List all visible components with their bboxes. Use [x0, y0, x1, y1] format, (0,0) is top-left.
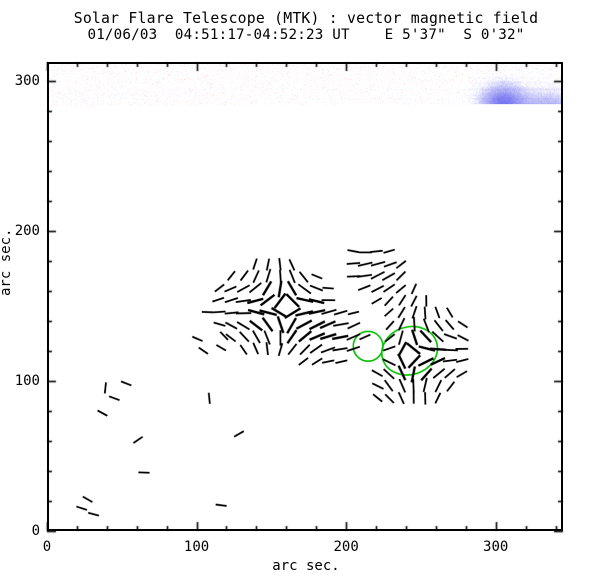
x-tick-label: 0: [43, 539, 51, 555]
title-line-1: Solar Flare Telescope (MTK) : vector mag…: [0, 10, 612, 27]
y-tick-label: 200: [15, 223, 40, 239]
x-tick-label: 200: [333, 539, 358, 555]
title-line-2: 01/06/03 04:51:17-04:52:23 UT E 5'37" S …: [0, 27, 612, 44]
x-tick-label: 300: [483, 539, 508, 555]
y-axis-title: arc sec.: [0, 229, 14, 296]
magnetogram-figure: Solar Flare Telescope (MTK) : vector mag…: [0, 0, 612, 585]
y-tick-label: 300: [15, 73, 40, 89]
figure-title: Solar Flare Telescope (MTK) : vector mag…: [0, 10, 612, 44]
x-axis-title: arc sec.: [0, 558, 612, 574]
x-tick-label: 100: [184, 539, 209, 555]
y-tick-label: 100: [15, 373, 40, 389]
y-tick-label: 0: [32, 523, 40, 539]
plot-area: [47, 62, 563, 531]
magnetogram-canvas: [49, 64, 561, 529]
